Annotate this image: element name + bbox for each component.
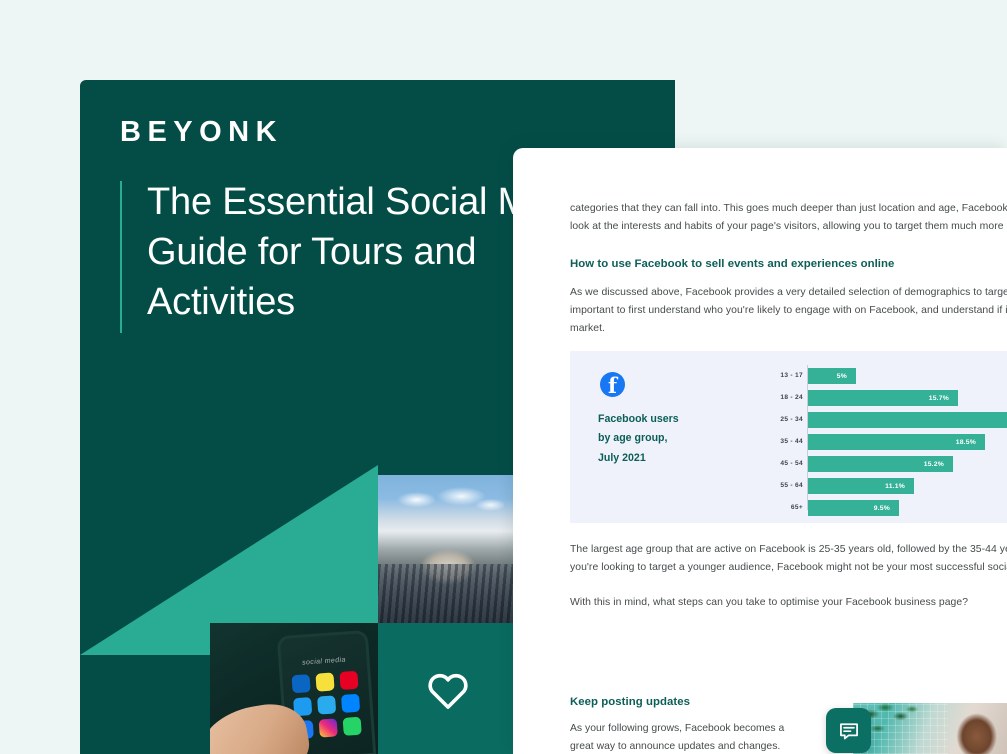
bar-fill: 5% (808, 368, 856, 384)
chart-title: Facebook users by age group, July 2021 (598, 410, 679, 468)
bar-fill: 18.5% (808, 434, 985, 450)
table-row: 13 - 17 5% (772, 368, 1007, 384)
bar-category-label: 13 - 17 (772, 373, 803, 380)
bar-track: 11.1% (808, 478, 1007, 494)
table-row: 65+ 9.5% (772, 500, 1007, 516)
bar-value-label: 5% (837, 373, 856, 380)
bar-value-label: 18.5% (956, 439, 985, 446)
bar-track: 18.5% (808, 434, 1007, 450)
bar-track: 15.7% (808, 390, 1007, 406)
facebook-age-chart-panel: Facebook users by age group, July 2021 1… (570, 351, 1007, 523)
phone-folder-label: social media (281, 655, 366, 668)
bar-track: 24.2% (808, 412, 1007, 428)
facebook-icon (600, 372, 625, 397)
paragraph-2-line-3: market. (570, 323, 605, 334)
table-row: 45 - 54 15.2% (772, 456, 1007, 472)
paragraph-3-line-2: you're looking to target a younger audie… (570, 562, 1007, 573)
paragraph-2-line-1: As we discussed above, Facebook provides… (570, 287, 1007, 298)
bar-track: 15.2% (808, 456, 1007, 472)
app-icon-telegram (317, 696, 336, 715)
document-heading-keep-posting: Keep posting updates (570, 696, 690, 708)
heart-panel (378, 623, 518, 754)
bar-track: 9.5% (808, 500, 1007, 516)
chart-title-line-1: Facebook users (598, 413, 679, 425)
photo-phone-social-apps: social media (210, 623, 378, 754)
chart-plot-area: 13 - 17 5% 18 - 24 15.7% (772, 365, 1007, 510)
app-icon-linkedin (291, 675, 310, 694)
document-heading-facebook-sell: How to use Facebook to sell events and e… (570, 258, 894, 270)
page-root: BEYONK The Essential Social Media Guide … (0, 0, 1007, 754)
bar-value-label: 11.1% (885, 483, 914, 490)
bar-fill: 15.7% (808, 390, 958, 406)
chart-title-line-3: July 2021 (598, 452, 646, 464)
bar-value-label: 15.2% (924, 461, 953, 468)
bar-fill: 9.5% (808, 500, 899, 516)
bar-category-label: 45 - 54 (772, 461, 803, 468)
bar-fill: 11.1% (808, 478, 914, 494)
bar-category-label: 25 - 34 (772, 417, 803, 424)
bar-category-label: 35 - 44 (772, 439, 803, 446)
bar-value-label: 9.5% (874, 505, 899, 512)
beyonk-logo: BEYONK (120, 118, 283, 147)
document-page: categories that they can fall into. This… (513, 148, 1007, 754)
document-paragraph-3: The largest age group that are active on… (570, 541, 1007, 577)
table-row: 35 - 44 18.5% (772, 434, 1007, 450)
bar-fill: 24.2% (808, 412, 1007, 428)
photo-london-st-pauls (378, 475, 518, 623)
app-icon-pinterest (339, 671, 358, 690)
table-row: 18 - 24 15.7% (772, 390, 1007, 406)
chart-title-line-2: by age group, (598, 432, 667, 444)
document-paragraph-4: With this in mind, what steps can you ta… (570, 594, 968, 612)
paragraph-1-line-2: look at the interests and habits of your… (570, 221, 1007, 232)
bar-category-label: 18 - 24 (772, 395, 803, 402)
paragraph-2-line-2: important to first understand who you're… (570, 305, 1007, 316)
title-accent-rule (120, 181, 122, 333)
bar-category-label: 65+ (772, 505, 803, 512)
chat-bubble-icon (838, 720, 860, 742)
bar-category-label: 55 - 64 (772, 483, 803, 490)
heart-icon (425, 668, 471, 710)
bar-track: 5% (808, 368, 1007, 384)
table-row: 25 - 34 24.2% (772, 412, 1007, 428)
document-paragraph-1: categories that they can fall into. This… (570, 200, 1007, 236)
photo-woman-with-plants (853, 703, 1007, 754)
app-icon-whatsapp (343, 717, 362, 736)
app-icon-instagram (319, 719, 338, 738)
paragraph-3-line-1: The largest age group that are active on… (570, 544, 1007, 555)
paragraph-1-line-1: categories that they can fall into. This… (570, 203, 1007, 214)
table-row: 55 - 64 11.1% (772, 478, 1007, 494)
app-icon-messenger (341, 694, 360, 713)
document-paragraph-2: As we discussed above, Facebook provides… (570, 284, 1007, 338)
document-paragraph-5: As your following grows, Facebook become… (570, 720, 795, 754)
bar-fill: 15.2% (808, 456, 953, 472)
app-icon-snapchat (315, 673, 334, 692)
bar-value-label: 15.7% (929, 395, 958, 402)
chat-widget-button[interactable] (826, 708, 871, 753)
